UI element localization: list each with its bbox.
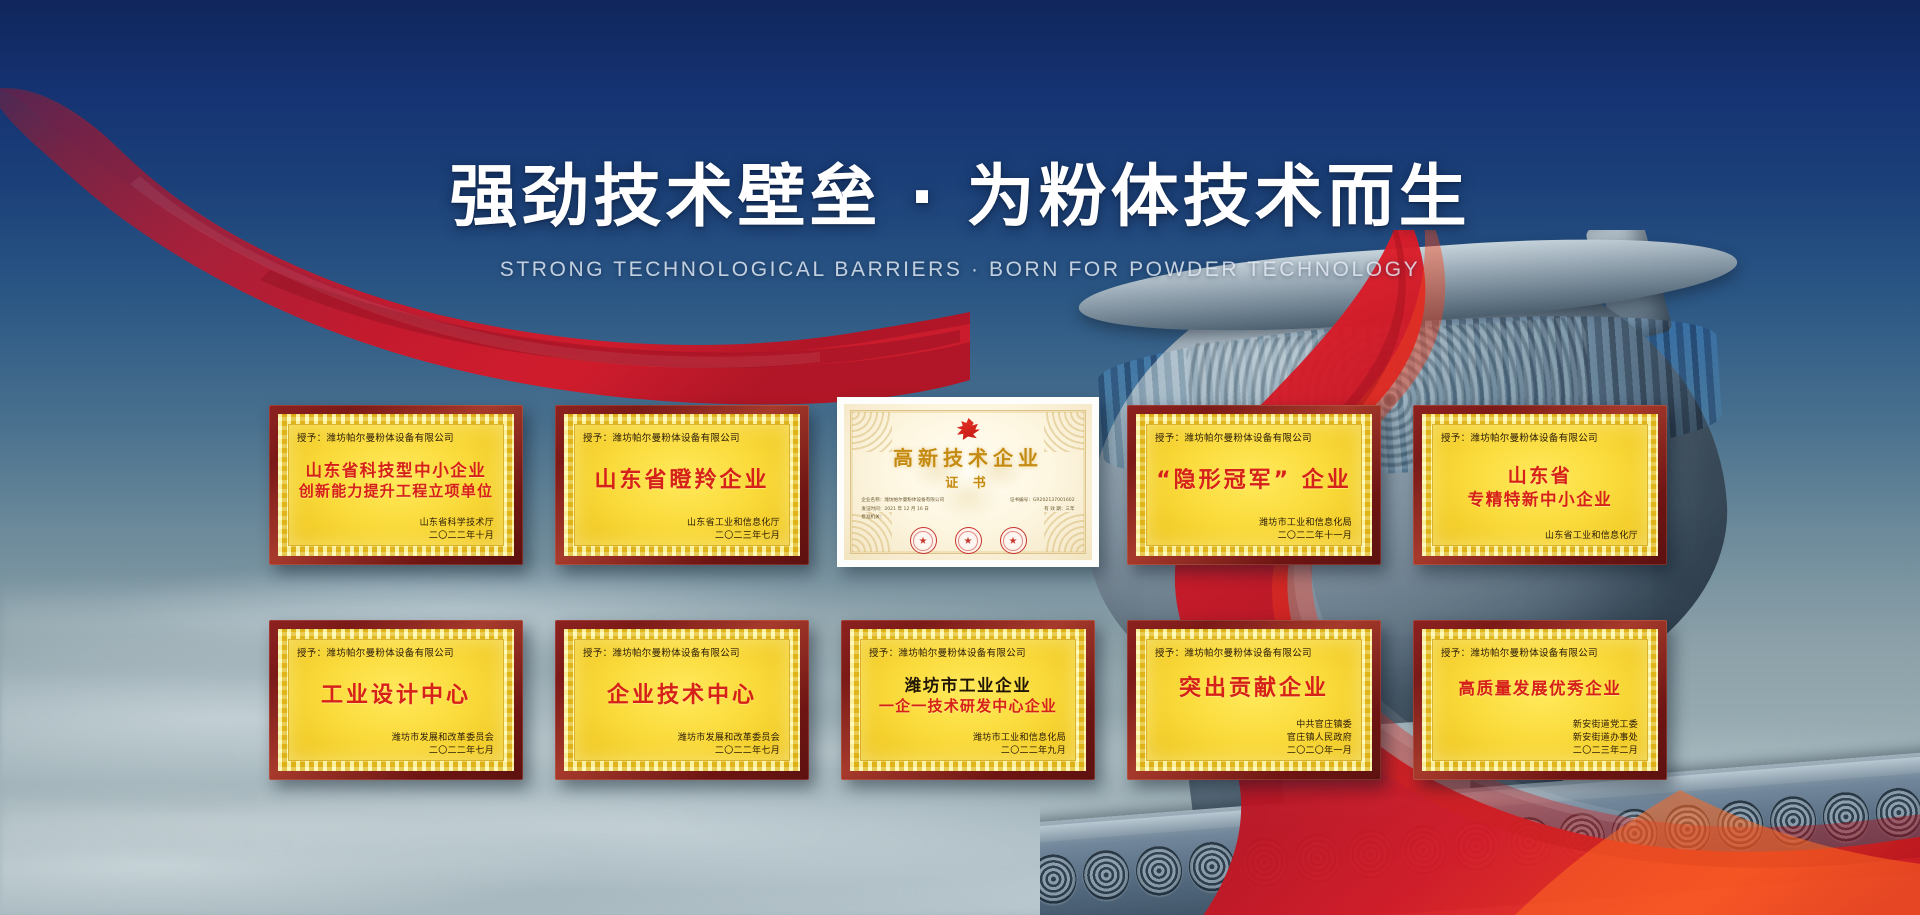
plaque-face: 授予：潍坊帕尔曼粉体设备有限公司山东省瞪羚企业山东省工业和信息化厅二〇二三年七月 <box>564 414 800 556</box>
award-title-line: 创新能力提升工程立项单位 <box>299 482 493 500</box>
certificate-corner-ornament <box>852 412 892 452</box>
plaque-weifang-yiqi-yijishu[interactable]: 授予：潍坊帕尔曼粉体设备有限公司潍坊市工业企业一企一技术研发中心企业潍坊市工业和… <box>841 620 1095 780</box>
certificate-slot: 授予：潍坊帕尔曼粉体设备有限公司“隐形冠军” 企业潍坊市工业和信息化局二〇二二年… <box>1113 405 1399 580</box>
award-issuer-block: 潍坊市发展和改革委员会二〇二二年七月 <box>581 732 783 758</box>
page-title: 强劲技术壁垒 · 为粉体技术而生 <box>0 160 1920 236</box>
award-issuer-block: 山东省工业和信息化厅 <box>1439 530 1641 543</box>
plaque-content: 授予：潍坊帕尔曼粉体设备有限公司企业技术中心潍坊市发展和改革委员会二〇二二年七月 <box>564 629 800 771</box>
award-issuer-line: 山东省科学技术厅 <box>295 517 494 530</box>
medallion-icon <box>1134 844 1184 897</box>
hero-headline-block: 强劲技术壁垒 · 为粉体技术而生 STRONG TECHNOLOGICAL BA… <box>0 160 1920 282</box>
plaque-gaozhiliang-fazhan[interactable]: 授予：潍坊帕尔曼粉体设备有限公司高质量发展优秀企业新安街道党工委新安街道办事处二… <box>1413 620 1667 780</box>
medallion-icon <box>1768 794 1818 847</box>
award-issuer-line: 二〇二〇年一月 <box>1153 745 1352 758</box>
medallion-icon <box>1081 848 1131 901</box>
medallion-icon <box>1557 811 1607 864</box>
hero-banner: 强劲技术壁垒 · 为粉体技术而生 STRONG TECHNOLOGICAL BA… <box>0 0 1920 915</box>
award-title-line: “隐形冠军” 企业 <box>1156 468 1352 495</box>
award-issuer-line: 新安街道办事处 <box>1439 732 1638 745</box>
certificate-field-row: 批准机关： <box>861 514 1074 523</box>
certificate-title: 高新技术企业 <box>893 442 1043 471</box>
certificate-slot: 授予：潍坊帕尔曼粉体设备有限公司企业技术中心潍坊市发展和改革委员会二〇二二年七月 <box>541 620 827 795</box>
certificate-subtitle: 证 书 <box>945 472 991 491</box>
award-issuer-block: 山东省科学技术厅二〇二二年十月 <box>295 517 497 543</box>
award-recipient: 授予：潍坊帕尔曼粉体设备有限公司 <box>1153 430 1355 444</box>
medallion-icon <box>1187 840 1237 893</box>
plaque-face: 授予：潍坊帕尔曼粉体设备有限公司山东省专精特新中小企业山东省工业和信息化厅 <box>1422 414 1658 556</box>
plaque-face: 授予：潍坊帕尔曼粉体设备有限公司潍坊市工业企业一企一技术研发中心企业潍坊市工业和… <box>850 629 1086 771</box>
certificate-slot: 授予：潍坊帕尔曼粉体设备有限公司山东省科技型中小企业创新能力提升工程立项单位山东… <box>255 405 541 580</box>
award-issuer-line: 二〇二二年十月 <box>295 530 494 543</box>
medallion-icon <box>1504 815 1554 868</box>
certificate-slot: 授予：潍坊帕尔曼粉体设备有限公司突出贡献企业中共官庄镇委官庄镇人民政府二〇二〇年… <box>1113 620 1399 795</box>
certificate-slot: 授予：潍坊帕尔曼粉体设备有限公司工业设计中心潍坊市发展和改革委员会二〇二二年七月 <box>255 620 541 795</box>
plaque-content: 授予：潍坊帕尔曼粉体设备有限公司山东省瞪羚企业山东省工业和信息化厅二〇二三年七月 <box>564 414 800 556</box>
page-subtitle: STRONG TECHNOLOGICAL BARRIERS · BORN FOR… <box>0 258 1920 282</box>
award-title: 突出贡献企业 <box>1153 660 1355 719</box>
medallion-icon <box>1874 786 1920 839</box>
award-issuer-line: 中共官庄镇委 <box>1153 719 1352 732</box>
plaque-yinxing-guanjun-qiye[interactable]: 授予：潍坊帕尔曼粉体设备有限公司“隐形冠军” 企业潍坊市工业和信息化局二〇二二年… <box>1127 405 1381 565</box>
award-title-line: 专精特新中小企业 <box>1468 490 1613 510</box>
award-issuer-line: 二〇二二年七月 <box>295 745 494 758</box>
award-issuer-line: 二〇二二年七月 <box>581 745 780 758</box>
award-title-line: 工业设计中心 <box>321 683 471 710</box>
certificate-fields: 企业名称：潍坊帕尔曼粉体设备有限公司证书编号：GR202137001602发证时… <box>861 497 1074 523</box>
medallion-icon <box>1451 819 1501 872</box>
plaque-content: 授予：潍坊帕尔曼粉体设备有限公司山东省专精特新中小企业山东省工业和信息化厅 <box>1422 414 1658 556</box>
award-issuer-line: 潍坊市发展和改革委员会 <box>581 732 780 745</box>
certificate-field-right: 证书编号：GR202137001602 <box>1010 497 1075 506</box>
plaque-face: 授予：潍坊帕尔曼粉体设备有限公司突出贡献企业中共官庄镇委官庄镇人民政府二〇二〇年… <box>1136 629 1372 771</box>
award-issuer-line: 新安街道党工委 <box>1439 719 1638 732</box>
award-title-line: 山东省 <box>1508 465 1573 488</box>
award-issuer-block: 潍坊市工业和信息化局二〇二二年十一月 <box>1153 517 1355 543</box>
certificate-field-right: 有 效 期：三年 <box>1044 506 1074 515</box>
certificate-seals <box>910 527 1027 554</box>
award-issuer-line: 二〇二三年二月 <box>1439 745 1638 758</box>
plaque-face: 授予：潍坊帕尔曼粉体设备有限公司山东省科技型中小企业创新能力提升工程立项单位山东… <box>278 414 514 556</box>
certificate-field-row: 发证时间：2021 年 12 月 16 日有 效 期：三年 <box>861 506 1074 515</box>
award-recipient: 授予：潍坊帕尔曼粉体设备有限公司 <box>295 430 497 444</box>
award-title: 企业技术中心 <box>581 660 783 732</box>
plaque-content: 授予：潍坊帕尔曼粉体设备有限公司潍坊市工业企业一企一技术研发中心企业潍坊市工业和… <box>850 629 1086 771</box>
official-seal-icon <box>910 527 937 554</box>
award-issuer-block: 山东省工业和信息化厅二〇二三年七月 <box>581 517 783 543</box>
certificate-field-left: 批准机关： <box>861 514 884 523</box>
award-issuer-line: 官庄镇人民政府 <box>1153 732 1352 745</box>
medallion-icon <box>1715 798 1765 851</box>
official-seal-icon <box>1000 527 1027 554</box>
award-recipient: 授予：潍坊帕尔曼粉体设备有限公司 <box>295 645 497 659</box>
medallion-icon <box>1610 807 1660 860</box>
plaque-content: 授予：潍坊帕尔曼粉体设备有限公司突出贡献企业中共官庄镇委官庄镇人民政府二〇二〇年… <box>1136 629 1372 771</box>
award-recipient: 授予：潍坊帕尔曼粉体设备有限公司 <box>581 645 783 659</box>
award-title: “隐形冠军” 企业 <box>1153 445 1355 517</box>
award-recipient: 授予：潍坊帕尔曼粉体设备有限公司 <box>1439 645 1641 659</box>
award-title-line: 一企一技术研发中心企业 <box>879 697 1057 715</box>
award-issuer-line: 山东省工业和信息化厅 <box>1439 530 1638 543</box>
certificate-slot: 授予：潍坊帕尔曼粉体设备有限公司潍坊市工业企业一企一技术研发中心企业潍坊市工业和… <box>827 620 1113 795</box>
medallion-icon <box>1240 836 1290 889</box>
award-title: 山东省专精特新中小企业 <box>1439 445 1641 530</box>
high-tech-enterprise-certificate[interactable]: 高新技术企业证 书企业名称：潍坊帕尔曼粉体设备有限公司证书编号：GR202137… <box>837 397 1099 567</box>
plaque-content: 授予：潍坊帕尔曼粉体设备有限公司“隐形冠军” 企业潍坊市工业和信息化局二〇二二年… <box>1136 414 1372 556</box>
plaque-face: 授予：潍坊帕尔曼粉体设备有限公司工业设计中心潍坊市发展和改革委员会二〇二二年七月 <box>278 629 514 771</box>
certificate-slot: 授予：潍坊帕尔曼粉体设备有限公司山东省瞪羚企业山东省工业和信息化厅二〇二三年七月 <box>541 405 827 580</box>
plaque-sd-kejixing-zhongxiao-qiye[interactable]: 授予：潍坊帕尔曼粉体设备有限公司山东省科技型中小企业创新能力提升工程立项单位山东… <box>269 405 523 565</box>
plaque-face: 授予：潍坊帕尔曼粉体设备有限公司“隐形冠军” 企业潍坊市工业和信息化局二〇二二年… <box>1136 414 1372 556</box>
award-title-line: 突出贡献企业 <box>1179 676 1329 703</box>
award-issuer-line: 二〇二三年七月 <box>581 530 780 543</box>
certificate-face: 高新技术企业证 书企业名称：潍坊帕尔曼粉体设备有限公司证书编号：GR202137… <box>844 404 1092 560</box>
award-title-line: 企业技术中心 <box>607 683 757 710</box>
award-issuer-line: 二〇二二年十一月 <box>1153 530 1352 543</box>
certificate-row-1: 授予：潍坊帕尔曼粉体设备有限公司山东省科技型中小企业创新能力提升工程立项单位山东… <box>255 405 1685 580</box>
award-title-line: 潍坊市工业企业 <box>905 676 1032 696</box>
certificate-field-left: 企业名称：潍坊帕尔曼粉体设备有限公司 <box>861 497 944 506</box>
certificate-field-left: 发证时间：2021 年 12 月 16 日 <box>861 506 928 515</box>
plaque-face: 授予：潍坊帕尔曼粉体设备有限公司企业技术中心潍坊市发展和改革委员会二〇二二年七月 <box>564 629 800 771</box>
plaque-qiye-jishu-zhongxin[interactable]: 授予：潍坊帕尔曼粉体设备有限公司企业技术中心潍坊市发展和改革委员会二〇二二年七月 <box>555 620 809 780</box>
medallion-icon <box>1821 790 1871 843</box>
certificate-row-2: 授予：潍坊帕尔曼粉体设备有限公司工业设计中心潍坊市发展和改革委员会二〇二二年七月… <box>255 620 1685 795</box>
medallion-icon <box>1346 827 1396 880</box>
certificate-slot: 高新技术企业证 书企业名称：潍坊帕尔曼粉体设备有限公司证书编号：GR202137… <box>827 405 1113 580</box>
flame-icon <box>955 418 981 440</box>
award-title-line: 山东省瞪羚企业 <box>594 468 769 495</box>
award-issuer-block: 潍坊市发展和改革委员会二〇二二年七月 <box>295 732 497 758</box>
plaque-gongye-sheji-zhongxin[interactable]: 授予：潍坊帕尔曼粉体设备有限公司工业设计中心潍坊市发展和改革委员会二〇二二年七月 <box>269 620 523 780</box>
certificate-slot: 授予：潍坊帕尔曼粉体设备有限公司山东省专精特新中小企业山东省工业和信息化厅 <box>1399 405 1685 580</box>
plaque-sd-zhuanjing-texin[interactable]: 授予：潍坊帕尔曼粉体设备有限公司山东省专精特新中小企业山东省工业和信息化厅 <box>1413 405 1667 565</box>
certificate-slot: 授予：潍坊帕尔曼粉体设备有限公司高质量发展优秀企业新安街道党工委新安街道办事处二… <box>1399 620 1685 795</box>
plaque-content: 授予：潍坊帕尔曼粉体设备有限公司山东省科技型中小企业创新能力提升工程立项单位山东… <box>278 414 514 556</box>
award-issuer-block: 中共官庄镇委官庄镇人民政府二〇二〇年一月 <box>1153 719 1355 758</box>
award-title: 山东省瞪羚企业 <box>581 445 783 517</box>
plaque-sd-dengling-qiye[interactable]: 授予：潍坊帕尔曼粉体设备有限公司山东省瞪羚企业山东省工业和信息化厅二〇二三年七月 <box>555 405 809 565</box>
certificate-corner-ornament <box>1044 412 1084 452</box>
award-recipient: 授予：潍坊帕尔曼粉体设备有限公司 <box>581 430 783 444</box>
award-title: 工业设计中心 <box>295 660 497 732</box>
award-issuer-block: 新安街道党工委新安街道办事处二〇二三年二月 <box>1439 719 1641 758</box>
plaque-content: 授予：潍坊帕尔曼粉体设备有限公司高质量发展优秀企业新安街道党工委新安街道办事处二… <box>1422 629 1658 771</box>
award-issuer-line: 山东省工业和信息化厅 <box>581 517 780 530</box>
award-title: 潍坊市工业企业一企一技术研发中心企业 <box>867 660 1069 732</box>
award-issuer-line: 潍坊市工业和信息化局 <box>867 732 1066 745</box>
medallion-icon <box>1040 852 1078 905</box>
award-title-line: 山东省科技型中小企业 <box>306 461 487 481</box>
medallion-icon <box>1398 823 1448 876</box>
award-title: 高质量发展优秀企业 <box>1439 660 1641 719</box>
award-title: 山东省科技型中小企业创新能力提升工程立项单位 <box>295 445 497 517</box>
plaque-tuchu-gongxian-qiye[interactable]: 授予：潍坊帕尔曼粉体设备有限公司突出贡献企业中共官庄镇委官庄镇人民政府二〇二〇年… <box>1127 620 1381 780</box>
medallion-icon <box>1663 803 1713 856</box>
award-recipient: 授予：潍坊帕尔曼粉体设备有限公司 <box>1153 645 1355 659</box>
plaque-face: 授予：潍坊帕尔曼粉体设备有限公司高质量发展优秀企业新安街道党工委新安街道办事处二… <box>1422 629 1658 771</box>
certificate-field-row: 企业名称：潍坊帕尔曼粉体设备有限公司证书编号：GR202137001602 <box>861 497 1074 506</box>
award-issuer-line: 潍坊市发展和改革委员会 <box>295 732 494 745</box>
official-seal-icon <box>955 527 982 554</box>
award-issuer-line: 二〇二二年九月 <box>867 745 1066 758</box>
award-recipient: 授予：潍坊帕尔曼粉体设备有限公司 <box>867 645 1069 659</box>
award-title-line: 高质量发展优秀企业 <box>1459 679 1622 699</box>
certificate-grid: 授予：潍坊帕尔曼粉体设备有限公司山东省科技型中小企业创新能力提升工程立项单位山东… <box>255 405 1685 800</box>
plaque-content: 授予：潍坊帕尔曼粉体设备有限公司工业设计中心潍坊市发展和改革委员会二〇二二年七月 <box>278 629 514 771</box>
award-recipient: 授予：潍坊帕尔曼粉体设备有限公司 <box>1439 430 1641 444</box>
award-issuer-block: 潍坊市工业和信息化局二〇二二年九月 <box>867 732 1069 758</box>
medallion-icon <box>1293 832 1343 885</box>
award-issuer-line: 潍坊市工业和信息化局 <box>1153 517 1352 530</box>
